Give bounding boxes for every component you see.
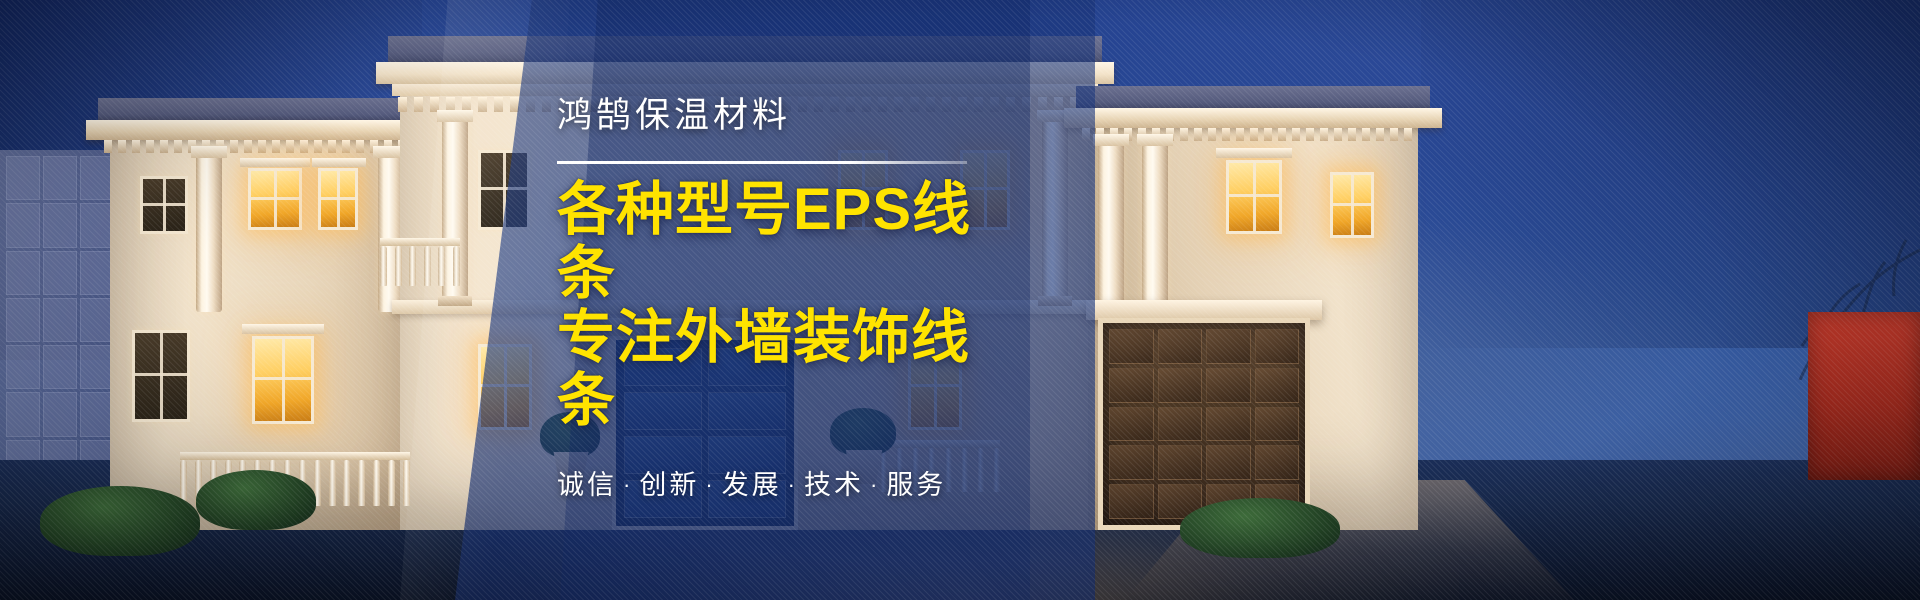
column-capital xyxy=(1137,134,1173,146)
window-lit xyxy=(1330,172,1374,238)
right-wing-dentil-band xyxy=(1082,128,1424,141)
tagline-item: 服务 xyxy=(886,470,946,500)
brand-name: 鸿鹄保温材料 xyxy=(557,98,1027,133)
garage-door-panels xyxy=(1109,329,1299,519)
left-wing-cornice xyxy=(86,120,434,140)
tagline-separator: · xyxy=(699,472,721,497)
distant-building xyxy=(0,150,120,490)
tagline-item: 诚信 xyxy=(557,470,617,500)
banner-text-block: 鸿鹄保温材料 各种型号EPS线条 专注外墙装饰线条 诚信·创新·发展·技术·服务 xyxy=(557,98,1027,502)
column xyxy=(196,152,222,312)
column xyxy=(1098,140,1124,306)
distant-building-windows xyxy=(0,150,120,490)
left-wing-dentil-band xyxy=(104,140,416,153)
window-lit xyxy=(318,168,358,230)
window-dark xyxy=(132,330,190,422)
tagline-separator: · xyxy=(864,472,886,497)
window-lit xyxy=(252,336,314,424)
red-panel xyxy=(1808,312,1920,480)
tagline: 诚信·创新·发展·技术·服务 xyxy=(557,463,1027,502)
tagline-separator: · xyxy=(782,472,804,497)
window-hood xyxy=(1216,148,1292,158)
divider-rule xyxy=(557,161,967,164)
shrub xyxy=(196,470,316,530)
window-lit xyxy=(1226,160,1282,234)
column-capital xyxy=(1093,134,1129,146)
window-hood xyxy=(312,158,366,167)
window-lit xyxy=(248,168,302,230)
shrub xyxy=(40,486,200,556)
headline-line-2: 专注外墙装饰线条 xyxy=(557,306,1027,434)
column-capital xyxy=(191,146,227,158)
window-dark xyxy=(140,176,188,234)
tagline-item: 创新 xyxy=(639,470,699,500)
tagline-item: 发展 xyxy=(722,470,782,500)
right-wing-cornice xyxy=(1064,108,1442,128)
column xyxy=(1142,140,1168,306)
tagline-item: 技术 xyxy=(804,470,864,500)
window-hood xyxy=(240,158,310,167)
garage-hood xyxy=(1086,300,1322,320)
headline: 各种型号EPS线条 专注外墙装饰线条 xyxy=(557,178,1027,433)
hero-banner: 鸿鹄保温材料 各种型号EPS线条 专注外墙装饰线条 诚信·创新·发展·技术·服务 xyxy=(0,0,1920,600)
tagline-separator: · xyxy=(617,472,639,497)
headline-line-1: 各种型号EPS线条 xyxy=(557,177,971,306)
shrub xyxy=(1180,498,1340,558)
window-hood xyxy=(242,324,324,334)
